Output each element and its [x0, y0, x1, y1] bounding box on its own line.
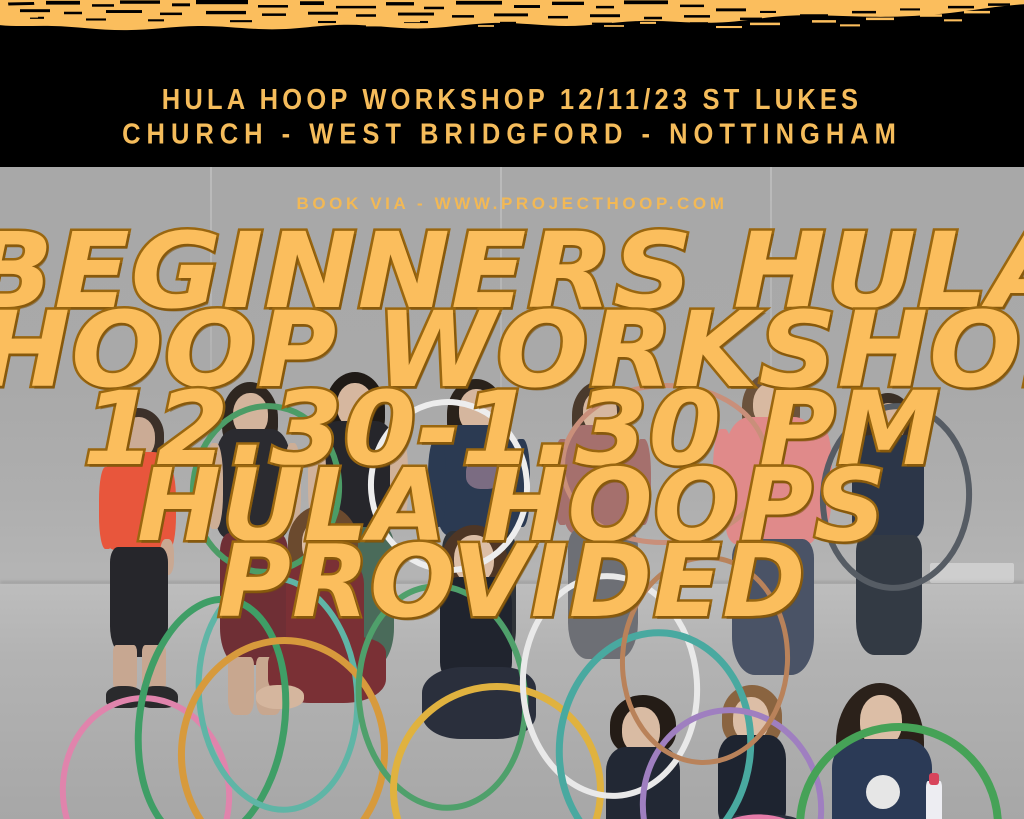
header-title: HULA HOOP WORKSHOP 12/11/23 ST LUKES CHU… [0, 83, 1024, 152]
header-line-2: CHURCH - WEST BRIDGFORD - NOTTINGHAM [0, 118, 1024, 153]
poster-canvas: HULA HOOP WORKSHOP 12/11/23 ST LUKES CHU… [0, 0, 1024, 819]
top-yellow-band [0, 0, 1024, 70]
header-line-1: HULA HOOP WORKSHOP 12/11/23 ST LUKES [162, 84, 863, 115]
background-photo [0, 167, 1024, 819]
booking-line[interactable]: BOOK VIA - WWW.PROJECTHOOP.COM [0, 194, 1024, 214]
